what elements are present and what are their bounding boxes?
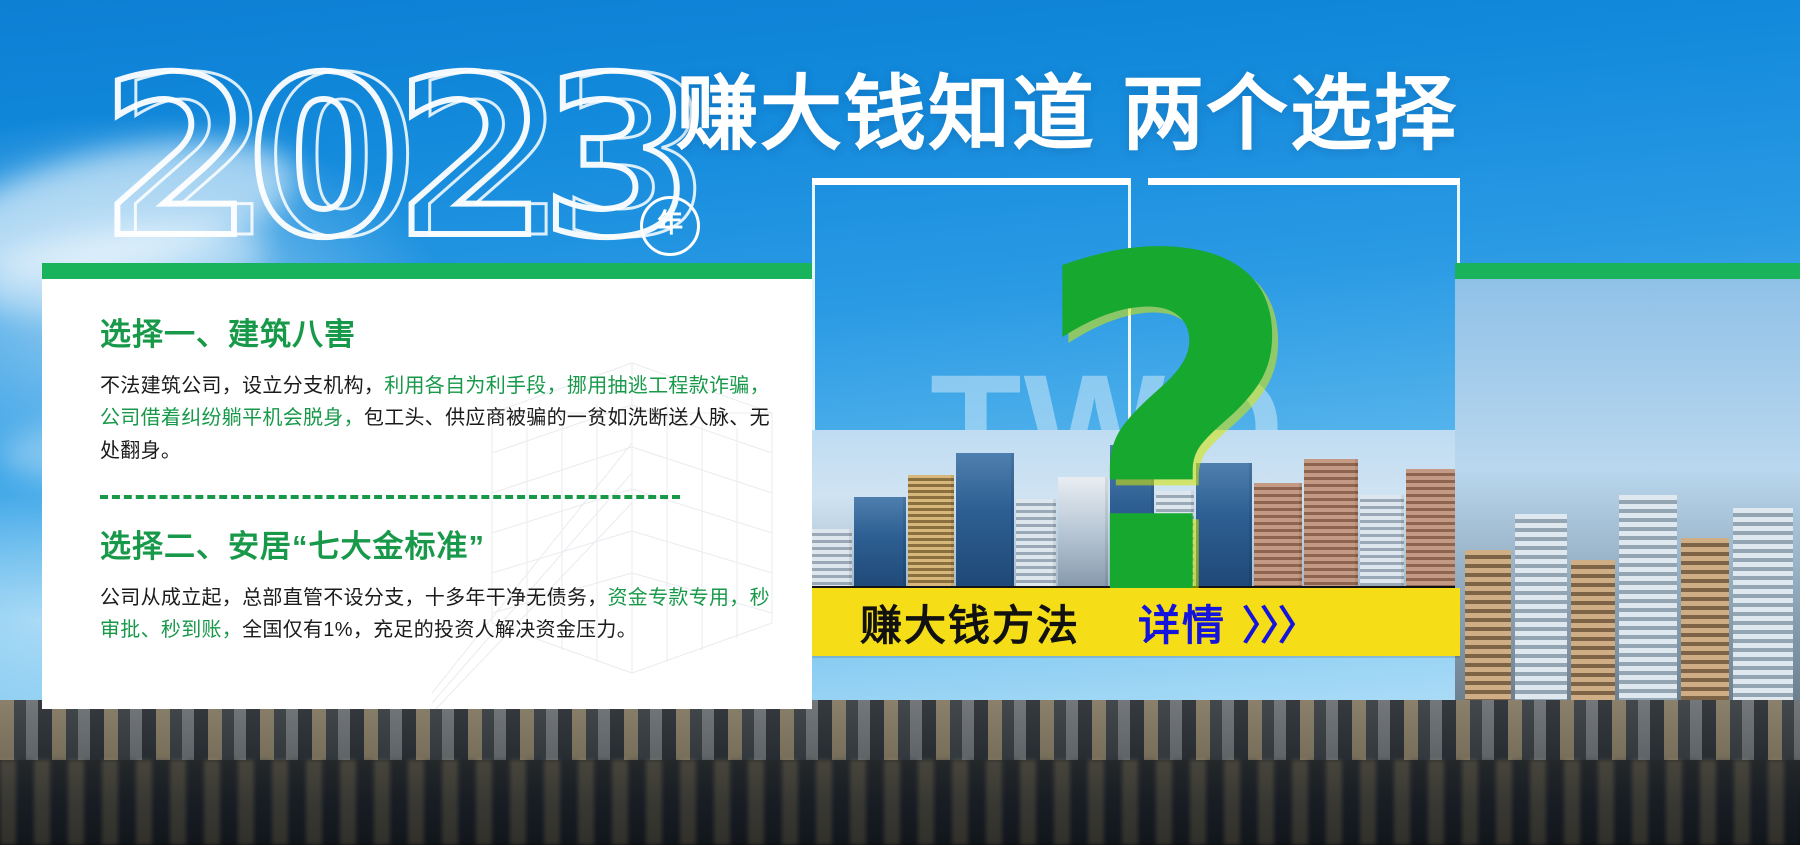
chevron-right-icon: 〉〉〉 — [1242, 593, 1316, 651]
bottom-cityscape-strip — [0, 700, 1800, 845]
card-section-2: 选择二、安居“七大金标准” 公司从成立起，总部直管不设分支，十多年干净无债务，资… — [100, 521, 788, 647]
section-2-body: 公司从成立起，总部直管不设分支，十多年干净无债务，资金专款专用，秒审批、秒到账，… — [100, 582, 778, 647]
section-1-title: 选择一、建筑八害 — [100, 309, 788, 354]
promo-banner: 2023 2023 年 赚大钱知道两个选择 TWO CHOICES ? — [0, 0, 1800, 845]
headline-part-2: 两个选择 — [1122, 69, 1458, 160]
page-title: 赚大钱知道两个选择 — [676, 74, 1458, 156]
section-divider — [100, 495, 680, 499]
section-1-text-a: 不法建筑公司，设立分支机构， — [100, 375, 384, 397]
year-outline: 2023 — [100, 48, 688, 268]
headline-part-1: 赚大钱知道 — [676, 69, 1096, 160]
year-suffix-badge: 年 — [640, 196, 700, 256]
section-2-title: 选择二、安居“七大金标准” — [100, 521, 788, 566]
right-cityscape-photo — [1455, 279, 1800, 700]
card-top-accent-bar — [42, 263, 812, 279]
section-2-text-b: 全国仅有1%，充足的投资人解决资金压力。 — [242, 619, 637, 641]
section-1-body: 不法建筑公司，设立分支机构，利用各自为利手段，挪用抽逃工程款诈骗，公司借着纠纷躺… — [100, 370, 778, 467]
section-2-text-a: 公司从成立起，总部直管不设分支，十多年干净无债务， — [100, 587, 608, 609]
cta-main-label: 赚大钱方法 — [860, 592, 1080, 653]
bottom-water-reflection — [0, 760, 1800, 845]
card-section-1: 选择一、建筑八害 不法建筑公司，设立分支机构，利用各自为利手段，挪用抽逃工程款诈… — [100, 309, 788, 467]
cta-banner[interactable]: 赚大钱方法 详情 〉〉〉 — [800, 588, 1460, 656]
cta-details-link[interactable]: 详情 — [1138, 592, 1226, 653]
content-card: 选择一、建筑八害 不法建筑公司，设立分支机构，利用各自为利手段，挪用抽逃工程款诈… — [42, 263, 812, 709]
right-green-accent-bar — [1455, 263, 1800, 279]
bottom-skyline — [0, 700, 1800, 760]
